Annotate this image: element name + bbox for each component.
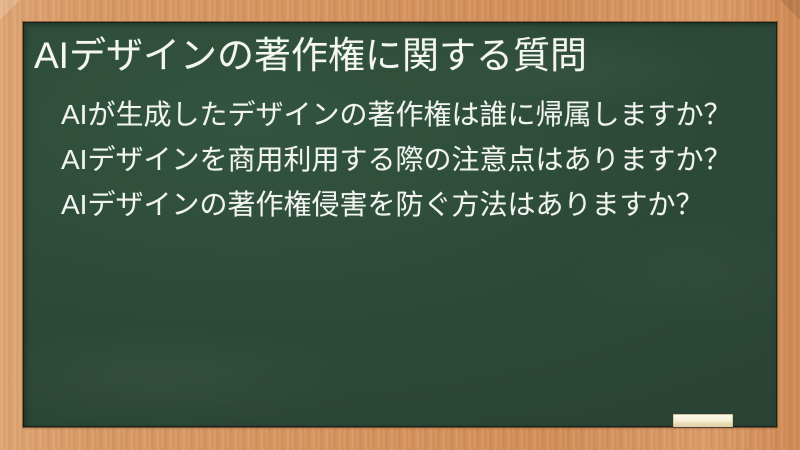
board-content: AIデザインの著作権に関する質問 AIが生成したデザインの著作権は誰に帰属します…	[23, 22, 777, 427]
list-item: AIデザインを商用利用する際の注意点はありますか？	[47, 139, 747, 181]
board-ledge-shadow	[23, 427, 777, 430]
chalk-eraser-icon	[673, 414, 733, 427]
chalk-eraser-felt	[674, 422, 732, 426]
list-item: AIが生成したデザインの著作権は誰に帰属しますか？	[47, 94, 747, 136]
chalkboard-slide: AIデザインの著作権に関する質問 AIが生成したデザインの著作権は誰に帰属します…	[0, 0, 800, 450]
question-list: AIが生成したデザインの著作権は誰に帰属しますか？ AIデザインを商用利用する際…	[34, 94, 763, 226]
chalkboard-surface: AIデザインの著作権に関する質問 AIが生成したデザインの著作権は誰に帰属します…	[23, 22, 777, 427]
page-title: AIデザインの著作権に関する質問	[34, 34, 763, 78]
list-item: AIデザインの著作権侵害を防ぐ方法はありますか？	[47, 184, 747, 226]
